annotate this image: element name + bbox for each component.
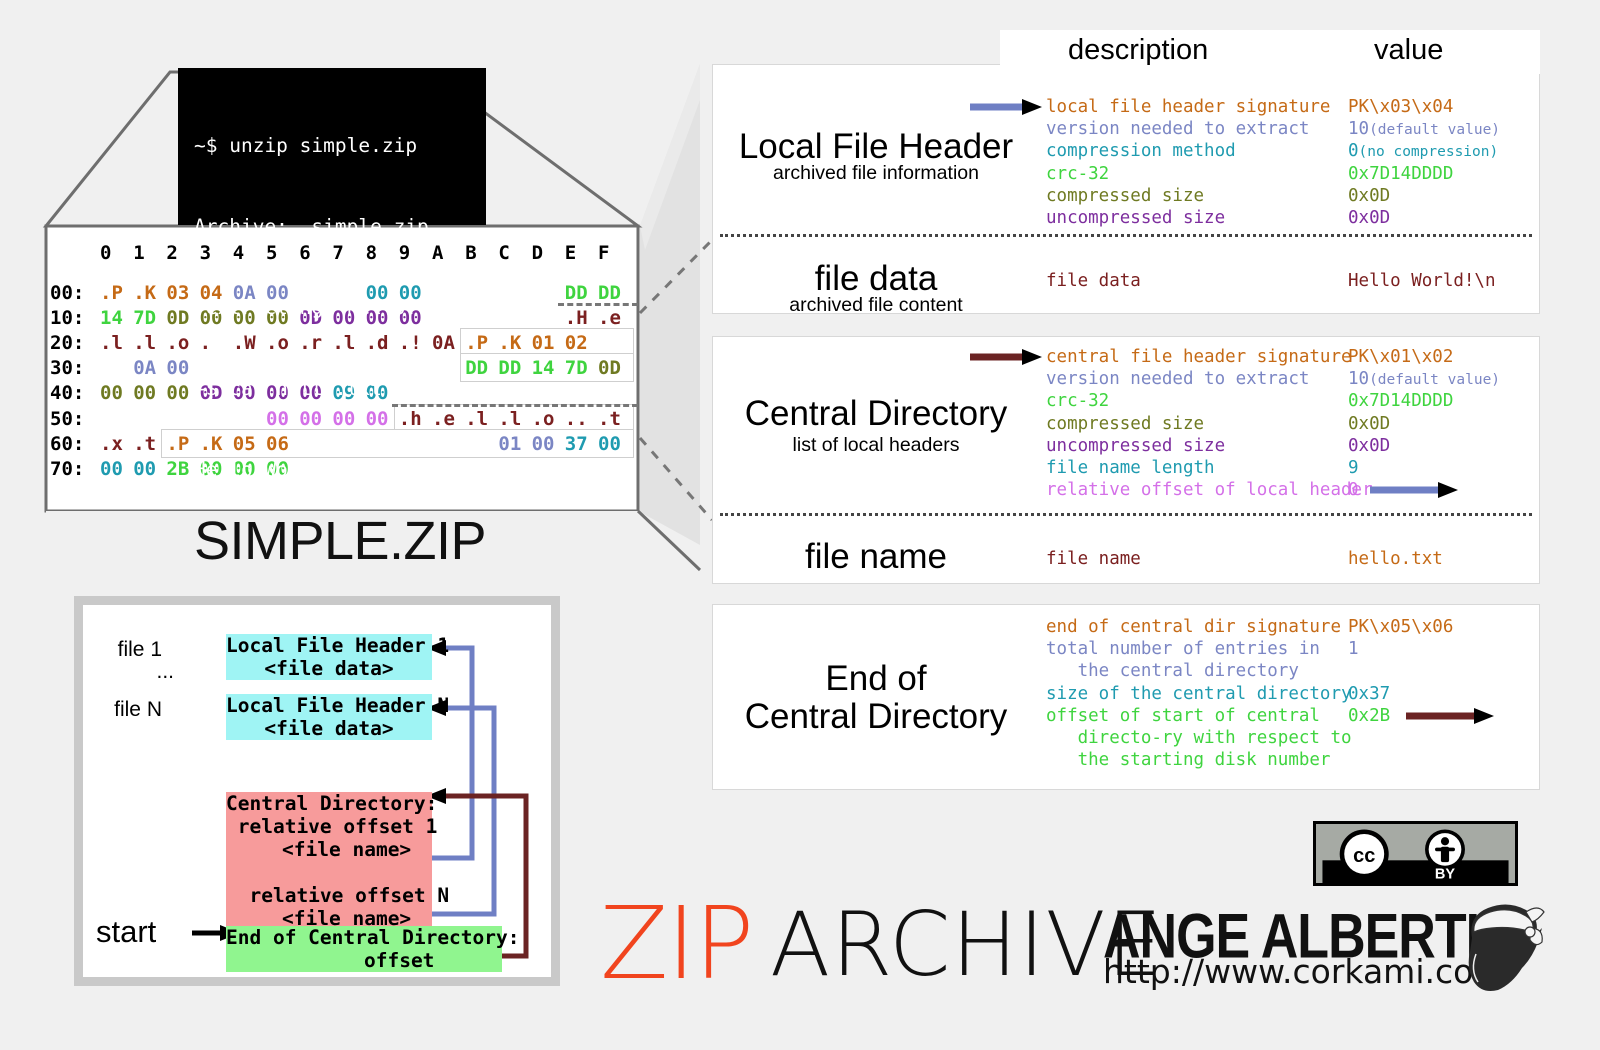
hex-byte: 01 <box>498 433 521 455</box>
hex-byte: .H <box>565 307 588 329</box>
hex-byte: .l <box>498 408 521 430</box>
zip-file-name-label: SIMPLE.ZIP <box>150 510 530 572</box>
hex-column-header: C <box>498 242 509 264</box>
cc-by-icon: cc BY <box>1316 824 1515 883</box>
hex-byte: 0A <box>133 357 156 379</box>
terminal-window: ~$ unzip simple.zip Archive: simple.zip … <box>178 68 486 225</box>
structure-block: Local File Header N <file data> <box>226 694 432 740</box>
hex-column-header: E <box>565 242 576 264</box>
terminal-line-4: ~$ cat hello.txt <box>194 375 486 402</box>
hex-byte: DD <box>598 282 621 304</box>
hex-offset-label: 10: <box>50 307 84 329</box>
hex-column-header: F <box>598 242 609 264</box>
hex-byte: 00 <box>100 382 123 404</box>
hex-byte: 02 <box>565 332 588 354</box>
hex-byte: .P <box>100 282 123 304</box>
hex-offset-label: 20: <box>50 332 84 354</box>
structure-block: End of Central Directory: offset <box>226 926 502 972</box>
hex-byte: .t <box>133 433 156 455</box>
hex-byte: 00 <box>100 458 123 480</box>
hex-byte: .l <box>133 332 156 354</box>
hex-byte: .P <box>166 433 189 455</box>
hex-offset-label: 70: <box>50 458 84 480</box>
hex-connector-dash <box>558 303 638 306</box>
structure-block: Central Directory: relative offset 1 <fi… <box>226 792 432 930</box>
cc-license-badge: cc BY <box>1313 821 1518 886</box>
hex-byte: 0D <box>166 307 189 329</box>
hex-byte: .e <box>598 307 621 329</box>
svg-text:BY: BY <box>1435 866 1455 882</box>
hex-offset-label: 30: <box>50 357 84 379</box>
hex-offset-label: 00: <box>50 282 84 304</box>
hex-byte: .l <box>100 332 123 354</box>
structure-file-label: file N <box>102 698 162 722</box>
hex-byte: DD <box>565 282 588 304</box>
terminal-line-1: ~$ unzip simple.zip <box>194 132 486 159</box>
hex-offset-label: 60: <box>50 433 84 455</box>
hex-byte: .x <box>100 433 123 455</box>
hex-byte: 37 <box>565 433 588 455</box>
structure-file-label: file 1 <box>102 638 162 662</box>
statue-head-illustration <box>1452 898 1548 1010</box>
hex-byte: 14 <box>532 357 555 379</box>
hex-offset-label: 40: <box>50 382 84 404</box>
hex-byte: 00 <box>166 382 189 404</box>
hex-byte: 00 <box>532 433 555 455</box>
hex-byte: 00 <box>133 458 156 480</box>
hex-byte: .o <box>532 408 555 430</box>
hex-byte: 00 <box>598 433 621 455</box>
hex-byte: 14 <box>100 307 123 329</box>
hex-byte: .K <box>498 332 521 354</box>
hex-column-header: D <box>532 242 543 264</box>
terminal-line-3: extracting: hello.txt <box>194 294 486 321</box>
hex-byte: 7D <box>565 357 588 379</box>
hex-byte: 03 <box>166 282 189 304</box>
hex-byte: 00 <box>133 382 156 404</box>
hex-byte: .K <box>133 282 156 304</box>
hex-byte: 01 <box>532 332 555 354</box>
structure-block: Local File Header 1 <file data> <box>226 634 432 680</box>
hex-byte: .t <box>598 408 621 430</box>
hex-column-header: 2 <box>166 242 177 264</box>
hex-byte: .o <box>166 332 189 354</box>
hex-column-header: 1 <box>133 242 144 264</box>
hex-offset-label: 50: <box>50 408 84 430</box>
terminal-line-2: Archive: simple.zip <box>194 213 486 240</box>
terminal-line-5: Hello World! <box>194 456 486 483</box>
hex-byte: 0D <box>598 357 621 379</box>
structure-file-label: ... <box>114 660 174 684</box>
hex-byte: 00 <box>166 357 189 379</box>
svg-text:cc: cc <box>1353 845 1375 867</box>
hex-column-header: 0 <box>100 242 111 264</box>
hex-byte: 2B <box>166 458 189 480</box>
structure-start-label: start <box>96 914 156 950</box>
hex-byte: 7D <box>133 307 156 329</box>
hex-byte: .. <box>565 408 588 430</box>
hex-byte: DD <box>498 357 521 379</box>
